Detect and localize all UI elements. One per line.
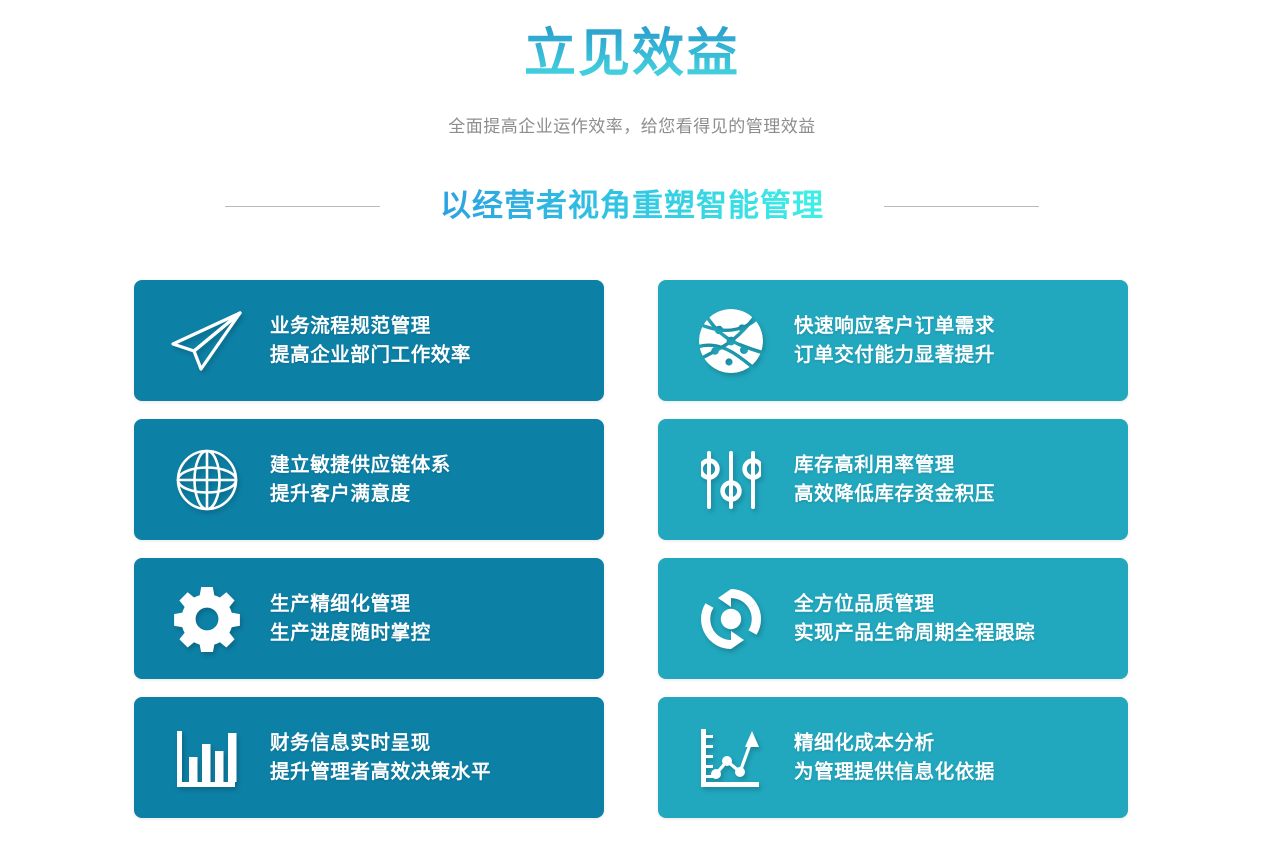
section-heading: 以经营者视角重塑智能管理 — [440, 189, 824, 223]
benefit-card[interactable]: 全方位品质管理实现产品生命周期全程跟踪 — [658, 558, 1128, 679]
benefit-card-line1: 快速响应客户订单需求 — [794, 312, 995, 340]
benefit-card-text: 库存高利用率管理高效降低库存资金积压 — [794, 451, 995, 508]
benefit-card-line2: 提高企业部门工作效率 — [270, 341, 471, 369]
benefit-card-line2: 高效降低库存资金积压 — [794, 480, 995, 508]
benefit-card[interactable]: 财务信息实时呈现提升管理者高效决策水平 — [134, 697, 604, 818]
benefit-card-line2: 订单交付能力显著提升 — [794, 341, 995, 369]
benefit-card-text: 财务信息实时呈现提升管理者高效决策水平 — [270, 729, 491, 786]
benefit-card-text: 生产精细化管理生产进度随时掌控 — [270, 590, 431, 647]
line-chart-icon — [692, 727, 770, 789]
sliders-icon — [692, 447, 770, 513]
benefit-card-grid: 业务流程规范管理提高企业部门工作效率 — [134, 280, 1130, 818]
benefit-card-line1: 建立敏捷供应链体系 — [270, 451, 451, 479]
benefit-card-text: 建立敏捷供应链体系提升客户满意度 — [270, 451, 451, 508]
benefits-page: 立见效益 全面提高企业运作效率，给您看得见的管理效益 以经营者视角重塑智能管理 … — [0, 0, 1264, 859]
benefit-card-line2: 实现产品生命周期全程跟踪 — [794, 619, 1035, 647]
benefit-card-line1: 财务信息实时呈现 — [270, 729, 491, 757]
benefit-card-line2: 提升管理者高效决策水平 — [270, 758, 491, 786]
benefit-card-line1: 业务流程规范管理 — [270, 312, 471, 340]
globe-icon — [168, 448, 246, 512]
benefit-card[interactable]: 精细化成本分析为管理提供信息化依据 — [658, 697, 1128, 818]
benefit-card-line1: 生产精细化管理 — [270, 590, 431, 618]
benefit-card-line1: 精细化成本分析 — [794, 729, 995, 757]
cycle-arrows-icon — [692, 586, 770, 652]
network-sphere-icon — [692, 308, 770, 374]
page-subtitle: 全面提高企业运作效率，给您看得见的管理效益 — [0, 112, 1264, 137]
benefit-card-line2: 提升客户满意度 — [270, 480, 451, 508]
benefit-card-text: 精细化成本分析为管理提供信息化依据 — [794, 729, 995, 786]
benefit-card[interactable]: 快速响应客户订单需求订单交付能力显著提升 — [658, 280, 1128, 401]
divider-line-left — [225, 206, 380, 207]
gear-icon — [168, 586, 246, 652]
page-title: 立见效益 — [0, 0, 1264, 80]
benefit-card[interactable]: 建立敏捷供应链体系提升客户满意度 — [134, 419, 604, 540]
benefit-card-text: 业务流程规范管理提高企业部门工作效率 — [270, 312, 471, 369]
benefit-card-line2: 生产进度随时掌控 — [270, 619, 431, 647]
paper-plane-icon — [168, 310, 246, 372]
benefit-card-line2: 为管理提供信息化依据 — [794, 758, 995, 786]
benefit-card-text: 快速响应客户订单需求订单交付能力显著提升 — [794, 312, 995, 369]
benefit-card-text: 全方位品质管理实现产品生命周期全程跟踪 — [794, 590, 1035, 647]
divider-line-right — [884, 206, 1039, 207]
benefit-card-line1: 全方位品质管理 — [794, 590, 1035, 618]
benefit-card[interactable]: 业务流程规范管理提高企业部门工作效率 — [134, 280, 604, 401]
benefit-card-line1: 库存高利用率管理 — [794, 451, 995, 479]
benefit-card[interactable]: 库存高利用率管理高效降低库存资金积压 — [658, 419, 1128, 540]
section-heading-block: 以经营者视角重塑智能管理 — [0, 189, 1264, 223]
bar-chart-icon — [168, 727, 246, 789]
benefit-card[interactable]: 生产精细化管理生产进度随时掌控 — [134, 558, 604, 679]
